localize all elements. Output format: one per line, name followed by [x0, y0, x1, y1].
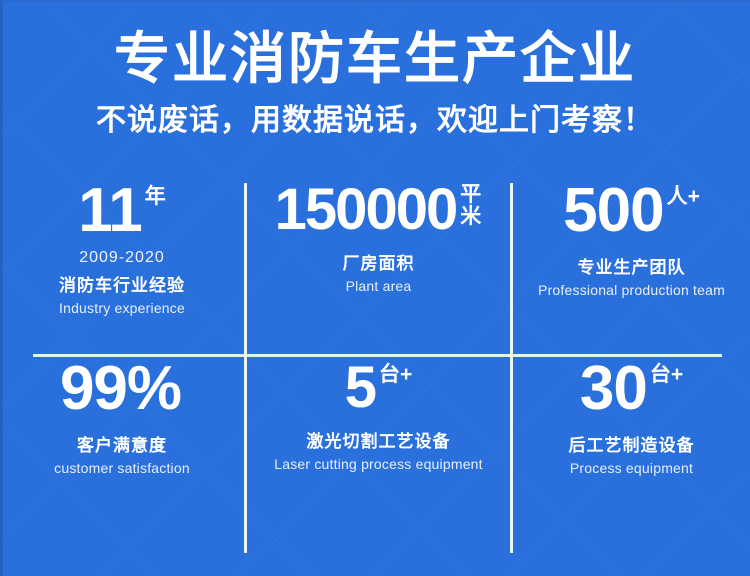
stat-unit: 人+ [667, 186, 700, 207]
stat-value-row: 150000 平米 [247, 182, 510, 237]
promo-banner: 专业消防车生产企业 不说废话，用数据说话，欢迎上门考察！ 11 年 2009-2… [0, 0, 750, 576]
stat-unit: 台+ [379, 364, 412, 385]
stat-cell-laser-cutting-equipment: 5 台+ 激光切割工艺设备 Laser cutting process equi… [247, 360, 510, 532]
stat-label-cn: 消防车行业经验 [0, 271, 244, 296]
stat-label-en: Professional production team [513, 282, 750, 298]
stat-value-row: 5 台+ [247, 360, 510, 415]
stat-value: 500 [563, 182, 663, 241]
stat-unit: 平米 [459, 184, 482, 228]
stat-value: 150000 [275, 182, 457, 237]
stat-cell-industry-experience: 11 年 2009-2020 消防车行业经验 Industry experien… [0, 182, 244, 354]
stat-label-en: Laser cutting process equipment [247, 456, 510, 472]
stat-label-en: Process equipment [513, 460, 750, 476]
stat-label-cn: 厂房面积 [247, 249, 510, 274]
stat-value-row: 11 年 [0, 182, 244, 241]
stat-range: 2009-2020 [0, 249, 244, 267]
stat-label-cn: 激光切割工艺设备 [247, 427, 510, 452]
page-title: 专业消防车生产企业 [0, 26, 750, 92]
stat-label-en: Industry experience [0, 300, 244, 316]
stat-label-cn: 后工艺制造设备 [513, 431, 750, 456]
stat-cell-production-team: 500 人+ 专业生产团队 Professional production te… [513, 182, 750, 354]
stat-value-row: 99% [0, 360, 244, 419]
stat-cell-customer-satisfaction: 99% 客户满意度 customer satisfaction [0, 360, 244, 532]
stat-label-en: customer satisfaction [0, 460, 244, 476]
stat-value: 99% [60, 360, 181, 419]
stat-cell-plant-area: 150000 平米 厂房面积 Plant area [247, 182, 510, 354]
stat-value-row: 500 人+ [513, 182, 750, 241]
banner-header: 专业消防车生产企业 不说废话，用数据说话，欢迎上门考察！ [0, 26, 750, 140]
stat-unit: 年 [145, 186, 166, 207]
stat-cell-process-equipment: 30 台+ 后工艺制造设备 Process equipment [513, 360, 750, 532]
stat-label-en: Plant area [247, 278, 510, 294]
stat-unit: 台+ [650, 364, 683, 385]
stat-label-cn: 客户满意度 [0, 431, 244, 456]
stats-grid: 11 年 2009-2020 消防车行业经验 Industry experien… [0, 178, 750, 553]
stat-value: 11 [78, 182, 142, 241]
page-subtitle: 不说废话，用数据说话，欢迎上门考察！ [0, 102, 750, 140]
stat-value: 5 [345, 360, 376, 415]
banner-top-edge [0, 0, 750, 2]
stat-value-row: 30 台+ [513, 360, 750, 419]
stat-label-cn: 专业生产团队 [513, 253, 750, 278]
stat-value: 30 [580, 360, 647, 419]
